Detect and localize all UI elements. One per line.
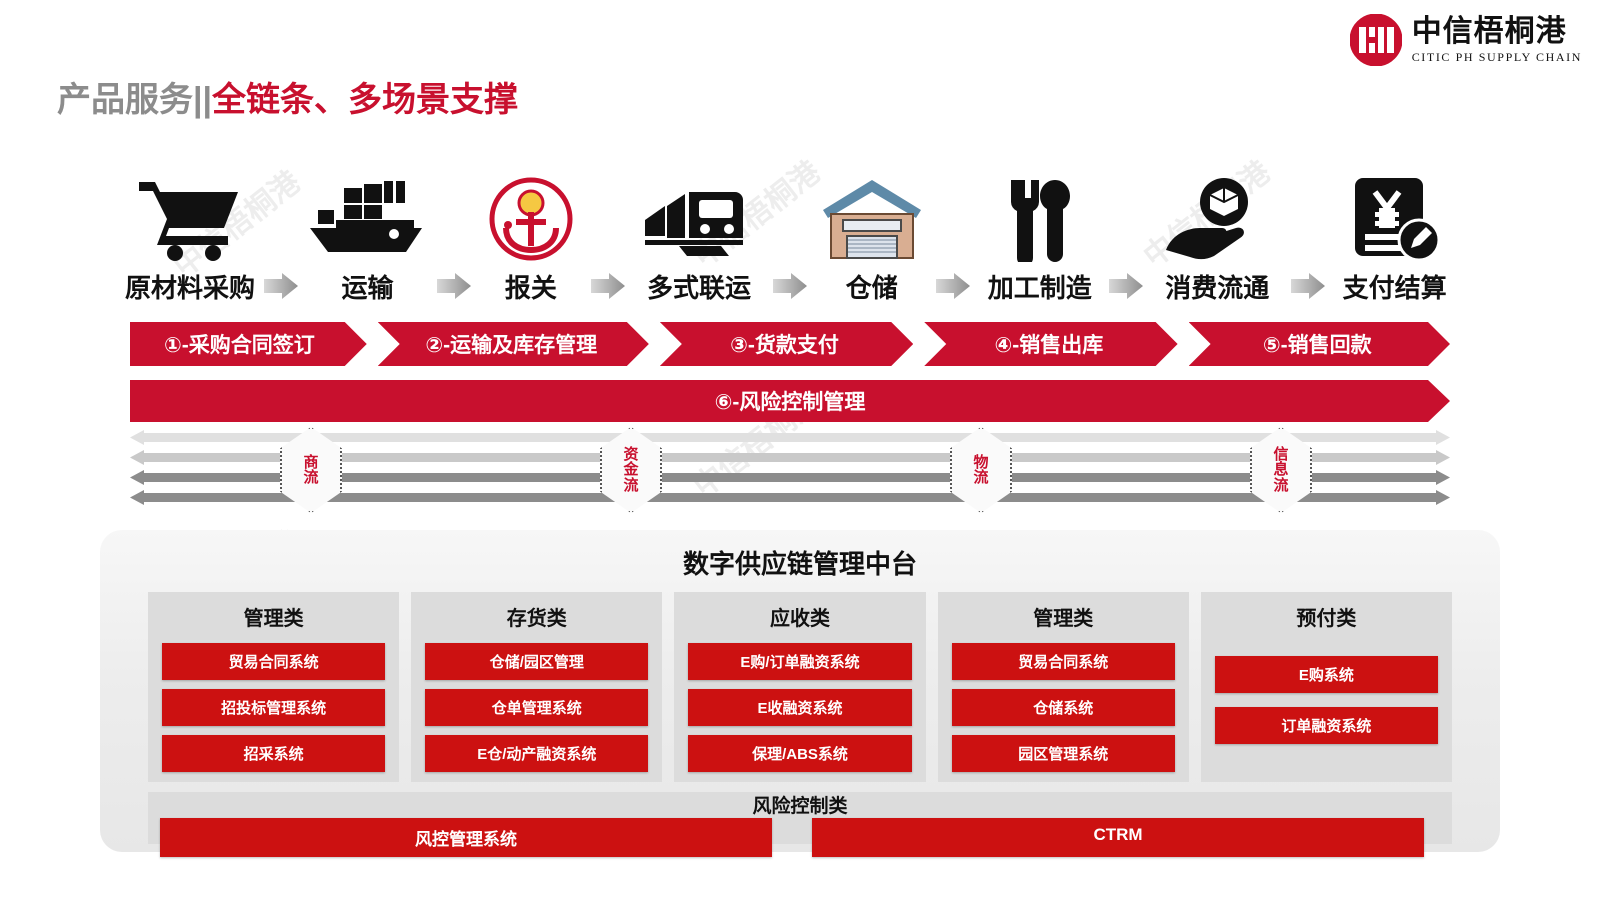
- chain-node[interactable]: 支付结算: [1329, 176, 1460, 305]
- platform-column-title: 管理类: [1033, 602, 1093, 631]
- platform-column-3: 应收类E购/订单融资系统E收融资系统保理/ABS系统: [674, 592, 925, 782]
- chain-node-label: 加工制造: [988, 268, 1092, 305]
- page-title-prefix: 产品服务: [57, 81, 193, 119]
- train-icon: [639, 176, 759, 262]
- chain-node[interactable]: 原材料采购: [120, 176, 260, 305]
- chain-node-label: 报关: [505, 268, 557, 305]
- invoice-yen-icon: [1349, 176, 1441, 262]
- supply-chain-icon-row: 原材料采购运输报关多式联运仓储加工制造消费流通支付结算: [120, 165, 1460, 305]
- chevron-right-arrow-icon: [936, 273, 970, 299]
- platform-column-title: 应收类: [770, 602, 830, 631]
- platform-column-items: E购/订单融资系统E收融资系统保理/ABS系统: [688, 643, 911, 772]
- brand-name-cn: 中信梧桐港: [1412, 16, 1582, 48]
- platform-column-5: 预付类E购系统订单融资系统: [1201, 592, 1452, 782]
- system-button[interactable]: 仓储/园区管理: [425, 643, 648, 680]
- chain-node-label: 运输: [341, 268, 393, 305]
- flow-marker-char: 息: [1273, 462, 1288, 477]
- warehouse-icon: [817, 176, 927, 262]
- flow-marker-char: 流: [623, 478, 638, 493]
- chevron-right-arrow-icon: [264, 273, 298, 299]
- risk-control-band: ⑥-风险控制管理: [130, 380, 1450, 422]
- flow-marker-char: 金: [623, 462, 638, 477]
- process-step-row: ①-采购合同签订②-运输及库存管理③-货款支付④-销售出库⑤-销售回款: [130, 322, 1450, 366]
- flow-marker-char: 流: [1273, 478, 1288, 493]
- system-button[interactable]: 招采系统: [162, 735, 385, 772]
- platform-column-4: 管理类贸易合同系统仓储系统园区管理系统: [938, 592, 1189, 782]
- platform-column-items: 仓储/园区管理仓单管理系统E仓/动产融资系统: [425, 643, 648, 772]
- shopping-cart-icon: [135, 176, 245, 262]
- page-title-highlight: 全链条、多场景支撑: [212, 81, 518, 119]
- platform-column-items: 贸易合同系统招投标管理系统招采系统: [162, 643, 385, 772]
- process-step-3[interactable]: ③-货款支付: [660, 322, 913, 366]
- system-button[interactable]: 招投标管理系统: [162, 689, 385, 726]
- platform-column-items: 贸易合同系统仓储系统园区管理系统: [952, 643, 1175, 772]
- chain-node[interactable]: 多式联运: [629, 176, 769, 305]
- cargo-ship-icon: [302, 176, 432, 262]
- process-step-2[interactable]: ②-运输及库存管理: [378, 322, 649, 366]
- chevron-right-arrow-icon: [773, 273, 807, 299]
- chain-node-label: 消费流通: [1165, 268, 1269, 305]
- process-step-5[interactable]: ⑤-销售回款: [1189, 322, 1450, 366]
- page-title: 产品服务||全链条、多场景支撑: [57, 72, 518, 121]
- platform-column-title: 管理类: [244, 602, 304, 631]
- system-button[interactable]: 仓储系统: [952, 689, 1175, 726]
- tools-icon: [997, 176, 1083, 262]
- page-title-separator: ||: [193, 81, 212, 119]
- platform-column-2: 存货类仓储/园区管理仓单管理系统E仓/动产融资系统: [411, 592, 662, 782]
- hand-package-icon: [1162, 176, 1272, 262]
- system-button[interactable]: 贸易合同系统: [162, 643, 385, 680]
- system-button[interactable]: 园区管理系统: [952, 735, 1175, 772]
- chain-node[interactable]: 加工制造: [974, 176, 1105, 305]
- risk-system-button[interactable]: 风控管理系统: [160, 818, 772, 857]
- risk-control-row: 风险控制类 风控管理系统CTRM: [148, 792, 1452, 844]
- process-step-1[interactable]: ①-采购合同签订: [130, 322, 367, 366]
- flow-marker-char: 商: [303, 455, 318, 470]
- risk-control-row-title: 风险控制类: [148, 791, 1452, 818]
- chain-node[interactable]: 报关: [475, 176, 587, 305]
- risk-control-bars: 风控管理系统CTRM: [160, 818, 1440, 857]
- system-button[interactable]: 订单融资系统: [1215, 707, 1438, 744]
- digital-supply-chain-platform: 数字供应链管理中台 管理类贸易合同系统招投标管理系统招采系统存货类仓储/园区管理…: [100, 530, 1500, 852]
- platform-column-title: 存货类: [507, 602, 567, 631]
- risk-system-button[interactable]: CTRM: [812, 818, 1424, 857]
- chevron-right-arrow-icon: [1109, 273, 1143, 299]
- chain-node[interactable]: 消费流通: [1147, 176, 1287, 305]
- flow-marker-char: 流: [973, 470, 988, 485]
- brand-logo: 中信梧桐港 CITIC PH SUPPLY CHAIN: [1350, 14, 1582, 66]
- chain-node[interactable]: 仓储: [811, 176, 932, 305]
- chain-node-label: 多式联运: [647, 268, 751, 305]
- system-button[interactable]: E购系统: [1215, 656, 1438, 693]
- brand-name-en: CITIC PH SUPPLY CHAIN: [1412, 51, 1582, 64]
- platform-columns: 管理类贸易合同系统招投标管理系统招采系统存货类仓储/园区管理仓单管理系统E仓/动…: [148, 592, 1452, 782]
- process-step-4[interactable]: ④-销售出库: [924, 322, 1177, 366]
- flow-marker-char: 流: [303, 470, 318, 485]
- system-button[interactable]: 贸易合同系统: [952, 643, 1175, 680]
- flow-marker-char: 物: [973, 455, 988, 470]
- chevron-right-arrow-icon: [1291, 273, 1325, 299]
- platform-column-items: E购系统订单融资系统: [1215, 643, 1438, 770]
- chain-node[interactable]: 运输: [302, 176, 433, 305]
- chevron-right-arrow-icon: [437, 273, 471, 299]
- citic-circle-icon: [1350, 14, 1402, 66]
- flow-bands: 商流资金流物流信息流: [130, 428, 1450, 508]
- chain-node-label: 原材料采购: [125, 268, 255, 305]
- chevron-right-arrow-icon: [591, 273, 625, 299]
- system-button[interactable]: E购/订单融资系统: [688, 643, 911, 680]
- citic-logo-icon: [1350, 14, 1402, 66]
- chain-node-label: 仓储: [846, 268, 898, 305]
- platform-column-title: 预付类: [1296, 602, 1356, 631]
- chain-node-label: 支付结算: [1343, 268, 1447, 305]
- system-button[interactable]: E收融资系统: [688, 689, 911, 726]
- system-button[interactable]: 仓单管理系统: [425, 689, 648, 726]
- platform-title: 数字供应链管理中台: [100, 544, 1500, 581]
- system-button[interactable]: E仓/动产融资系统: [425, 735, 648, 772]
- anchor-customs-icon: [488, 176, 574, 262]
- platform-column-1: 管理类贸易合同系统招投标管理系统招采系统: [148, 592, 399, 782]
- system-button[interactable]: 保理/ABS系统: [688, 735, 911, 772]
